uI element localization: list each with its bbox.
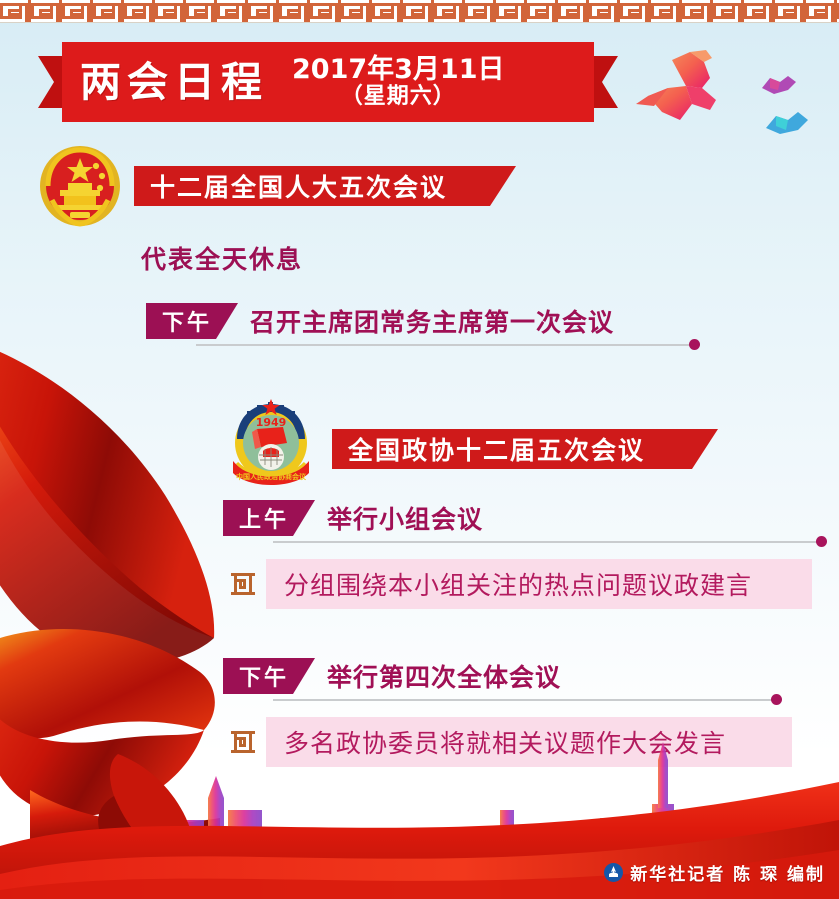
national-emblem-of-china	[34, 142, 126, 234]
cppcc-morning-detail: 分组围绕本小组关注的热点问题议政建言	[266, 566, 752, 602]
time-badge-morning-label: 上午	[239, 502, 289, 534]
greek-key-unit	[651, 0, 682, 22]
greek-key-unit	[620, 0, 651, 22]
cppcc-afternoon-underline	[273, 699, 773, 701]
cppcc-morning-underline-dot	[816, 536, 827, 547]
footer-credit: 新华社记者 陈 琛 编制	[604, 860, 825, 885]
section-title-cppcc: 全国政协十二届五次会议	[332, 429, 718, 469]
greek-key-unit	[62, 0, 93, 22]
section-title-npc-label: 十二届全国人大五次会议	[150, 168, 447, 204]
greek-key-unit	[527, 0, 558, 22]
cppcc-afternoon-event: 举行第四次全体会议	[327, 658, 561, 694]
cppcc-afternoon-underline-dot	[771, 694, 782, 705]
header-date: 2017年3月11日	[292, 56, 505, 84]
infographic-poster: 两会日程 2017年3月11日 （星期六）	[0, 0, 839, 899]
greek-key-unit	[93, 0, 124, 22]
svg-text:中国人民政治协商会议: 中国人民政治协商会议	[236, 472, 307, 481]
greek-key-unit	[465, 0, 496, 22]
ribbon-plate: 两会日程 2017年3月11日 （星期六）	[62, 42, 594, 122]
greek-key-unit	[372, 0, 403, 22]
greek-key-unit	[124, 0, 155, 22]
greek-key-unit	[217, 0, 248, 22]
greek-key-unit	[496, 0, 527, 22]
npc-note: 代表全天休息	[141, 240, 303, 276]
time-badge-afternoon-label: 下午	[162, 305, 212, 337]
flying-bird-icon	[758, 72, 800, 98]
npc-item-afternoon: 下午 召开主席团常务主席第一次会议	[146, 303, 614, 339]
cppcc-morning-underline	[273, 541, 818, 543]
greek-key-unit	[589, 0, 620, 22]
xinhua-logo	[604, 863, 623, 882]
time-badge-afternoon: 下午	[146, 303, 238, 339]
flying-bird-icon	[762, 108, 812, 138]
seal-glyph-icon	[230, 571, 256, 597]
page-title: 两会日程	[80, 62, 268, 103]
cppcc-item-morning: 上午 举行小组会议	[223, 500, 483, 536]
greek-key-unit	[31, 0, 62, 22]
cppcc-morning-event: 举行小组会议	[327, 500, 483, 536]
time-badge-afternoon-2: 下午	[223, 658, 315, 694]
cppcc-morning-detail-box: 分组围绕本小组关注的热点问题议政建言	[266, 559, 812, 609]
greek-key-unit	[682, 0, 713, 22]
header-date-block: 2017年3月11日 （星期六）	[292, 56, 505, 107]
time-badge-afternoon-2-label: 下午	[239, 660, 289, 692]
npc-item-underline	[196, 344, 690, 346]
greek-key-unit	[744, 0, 775, 22]
greek-key-unit	[775, 0, 806, 22]
section-title-cppcc-label: 全国政协十二届五次会议	[348, 431, 645, 467]
cppcc-item-afternoon: 下午 举行第四次全体会议	[223, 658, 561, 694]
greek-key-unit	[310, 0, 341, 22]
greek-key-unit	[403, 0, 434, 22]
flying-bird-icon	[632, 48, 742, 133]
greek-key-unit	[806, 0, 837, 22]
greek-key-unit	[434, 0, 465, 22]
header-weekday: （星期六）	[341, 85, 456, 108]
cppcc-emblem: 1949 中国人民政治协商会议	[227, 399, 315, 489]
footer-credit-text: 新华社记者 陈 琛 编制	[630, 860, 825, 885]
greek-key-unit	[279, 0, 310, 22]
greek-key-unit	[0, 0, 31, 22]
greek-key-unit	[713, 0, 744, 22]
npc-afternoon-event: 召开主席团常务主席第一次会议	[250, 303, 614, 339]
greek-key-border	[0, 0, 839, 23]
svg-text:1949: 1949	[256, 416, 287, 429]
section-title-npc: 十二届全国人大五次会议	[134, 166, 516, 206]
greek-key-unit	[155, 0, 186, 22]
time-badge-morning: 上午	[223, 500, 315, 536]
header-ribbon: 两会日程 2017年3月11日 （星期六）	[38, 42, 618, 122]
npc-item-underline-dot	[689, 339, 700, 350]
greek-key-unit	[341, 0, 372, 22]
greek-key-unit	[186, 0, 217, 22]
greek-key-unit	[248, 0, 279, 22]
greek-key-unit	[558, 0, 589, 22]
